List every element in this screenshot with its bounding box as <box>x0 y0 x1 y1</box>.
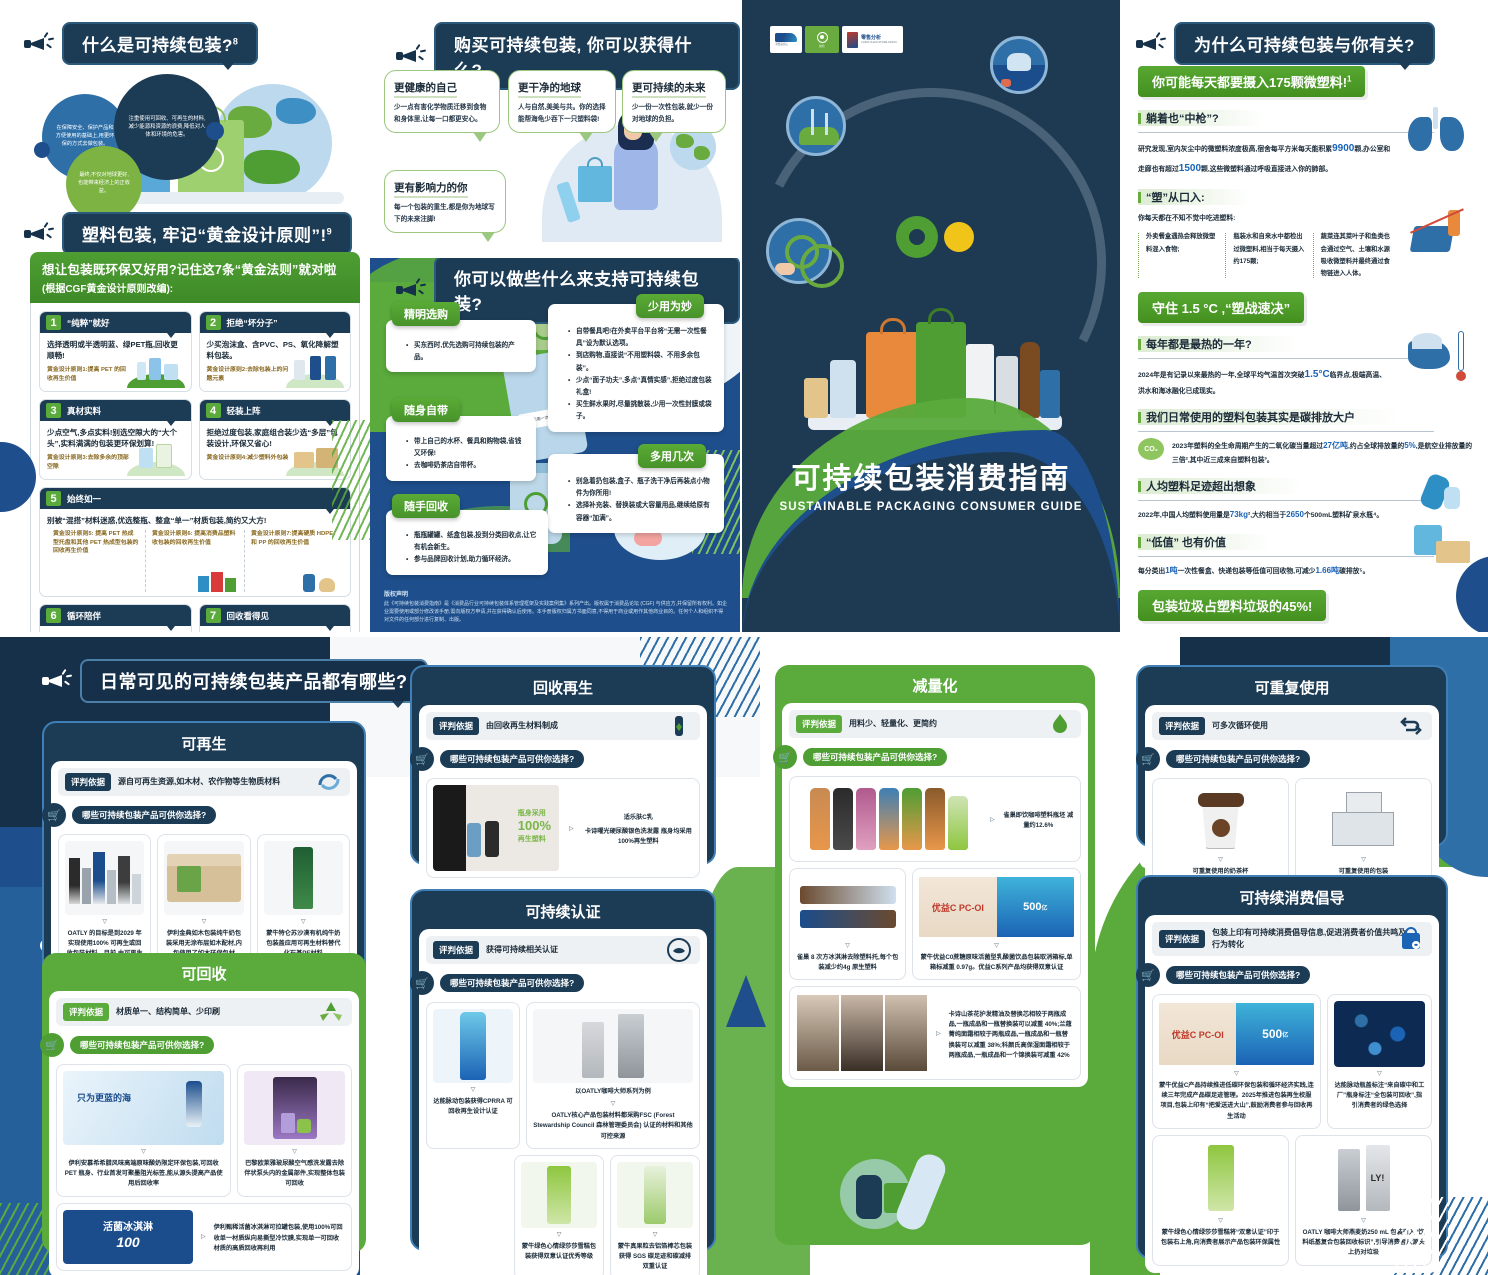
question-label: 哪些可持续包装产品可供你选择? <box>803 748 947 766</box>
rule-name: 回收看得见 <box>227 610 270 622</box>
rule-name: 真材实料 <box>67 405 101 417</box>
sub-head-footprint: 人均塑料足迹超出想象 <box>1138 478 1301 494</box>
category-body: 评判依据 材质单一、结构简单、少印刷 🛒 哪些可持续包装产品可供你选择? 只为更… <box>49 991 359 1275</box>
category-title: 回收再生 <box>419 674 707 705</box>
product-grid: ▽ 可重复使用的奶茶杯 ▽ 可重复使用的包装 <box>1152 778 1432 884</box>
lungs-icon <box>1404 105 1468 161</box>
action-list-4: 瓶瓶罐罐、纸盒包装,投到分类回收点,让它有机会新生。 参与品牌回收计划,助力循环… <box>396 530 538 567</box>
rule-note: 黄金设计原则3:去除多余的顶部空隙 <box>47 454 129 471</box>
panel-benefits-and-actions: 购买可持续包装, 你可以获得什么? 更健康的自己 少一点有害化学物质迁移到食物和… <box>370 0 740 632</box>
why-title: 为什么可持续包装与你有关? <box>1174 22 1435 65</box>
product-caption: 卡诗曜光硬尿酸银色洗发露 瓶身均采用100%再生塑料 <box>584 827 693 847</box>
megaphone-icon <box>42 670 72 692</box>
hatch-decor <box>1396 1197 1488 1275</box>
jar-icon <box>830 360 856 418</box>
category-reusable: 可重复使用 评判依据 可多次循环使用 🛒 哪些可持续包装产品可供你选择? <box>1136 665 1448 847</box>
question-row: 🛒 哪些可持续包装产品可供你选择? <box>410 971 700 995</box>
rule-name: 始终如一 <box>67 493 101 505</box>
rule-number: 6 <box>46 608 61 623</box>
rule-name: “纯粹”就好 <box>67 317 110 329</box>
cart-icon: 🛒 <box>773 745 797 769</box>
rule5-note-3: 黄金设计原则7:提高硬质 HDPE 和 PP 的回收再生价值 <box>244 530 343 592</box>
shopping-bag-leaf-icon <box>1398 926 1424 952</box>
criteria-row: 评判依据 包装上印有可持续消费倡导信息,促进消费者价值共鸣及行为转化 <box>1152 922 1432 956</box>
action-list-2: 自带餐具吧!在外卖平台平台将“无需一次性餐具”设为默认选项。 到店购物,直接说“… <box>558 326 714 424</box>
eating-col-1: 外卖餐盒遇热会释放微塑料混入食物; <box>1138 231 1225 280</box>
category-body: 评判依据 用料少、轻量化、更简约 🛒 哪些可持续包装产品可供你选择? <box>782 703 1088 1087</box>
action-tag-2: 少用为妙 <box>636 294 704 318</box>
down-arrow-icon: ▽ <box>653 1231 658 1238</box>
loop-arrows-icon <box>1398 713 1424 739</box>
category-title: 可再生 <box>51 730 357 761</box>
action-tag-1: 随身自带 <box>392 398 460 422</box>
question-row: 🛒 哪些可持续包装产品可供你选择? <box>410 747 700 771</box>
down-arrow-icon: ▽ <box>1218 856 1223 863</box>
criteria-badge: 评判依据 <box>1159 930 1205 948</box>
melting-ice-icon <box>1406 327 1470 383</box>
question-row: 🛒 哪些可持续包装产品可供你选择? <box>773 745 1081 769</box>
down-arrow-icon: ▽ <box>202 918 207 925</box>
cart-icon: 🛒 <box>410 747 434 771</box>
tree-icon <box>726 975 766 1027</box>
panel-cover: 消费品论坛 绿色 零售分析 CHINA CHAIN STORE ASSOC. <box>742 0 1120 632</box>
product-caption: 卡诗山茶花护发精油及替换芯相较于两瓶成品,一瓶成品和一瓶替换装可以减重 40%;… <box>949 1010 1074 1061</box>
product-cell: ▽ 可重复使用的奶茶杯 <box>1152 778 1289 884</box>
action-list-3: 别急着扔包装,盒子、瓶子洗干净后再装点小物件为你所用! 选择补充装、替换装或大容… <box>558 476 714 525</box>
blue-bag-icon <box>578 166 612 202</box>
category-title: 可重复使用 <box>1145 674 1439 705</box>
rule-card-2: 2拒绝“坏分子” 少买泡沫盒、含PVC、PS、氧化降解塑料包装。 黄金设计原则2… <box>199 311 352 392</box>
reusable-box-image <box>1302 785 1425 853</box>
sub-head-eating-plastic: “塑”从口入: <box>1138 189 1250 205</box>
rule-name: 循环陪伴 <box>67 610 101 622</box>
what-is-title-sup: 8 <box>233 36 239 46</box>
action-tag-4: 随手回收 <box>392 494 460 518</box>
action-card-2: 自带餐具吧!在外卖平台平台将“无需一次性餐具”设为默认选项。 到店购物,直接说“… <box>548 304 724 432</box>
category-body: 评判依据 由回收再生材料制成 🛒 哪些可持续包装产品可供你选择? 瓶身采用100… <box>419 705 707 885</box>
product-grid: ▽ 达能脉动包装获得CPRRA 可回收再生设计认证 以OATLY咖啡大师系列为例… <box>426 1002 700 1149</box>
product-caption: 蒙牛绿色心情绿莎莎雪糕包装获得双意认证优秀等级 <box>521 1242 597 1262</box>
water-drop-icon <box>1047 711 1073 737</box>
rule-note: 黄金设计原则4:减少塑料外包装 <box>207 454 289 463</box>
loreal-refill-posters-image <box>796 993 928 1073</box>
criteria-badge: 评判依据 <box>63 1003 109 1021</box>
person-icon <box>614 136 658 210</box>
hatch-decor <box>332 420 370 540</box>
product-cell-wide: ▷ 雀巢即饮咖啡塑料瓶坯 减量约12.6% <box>789 776 1081 862</box>
pet-bottles-icon <box>127 354 185 388</box>
action-list-1: 带上自己的水杯、餐具和购物袋,省钱又环保! 去咖啡奶茶店自带杯。 <box>396 436 526 473</box>
product-caption: 蒙牛优益C产品持续推进低碳环保包装和循环经济实践,连续三年完成产品碳足迹管理。2… <box>1159 1081 1314 1122</box>
rule-note: 黄金设计原则1:提高 PET 的回收再生价值 <box>47 366 129 383</box>
what-is-heading-row: 什么是可持续包装?8 <box>24 22 258 65</box>
rule-name: 拒绝“坏分子” <box>227 317 278 329</box>
eating-col-3: 蔬菜连其菜叶子和鱼类也会通过空气、土壤和水源吸收微塑料并最终通过食物链进入人体。 <box>1313 231 1400 280</box>
bubble-green: 最终,不仅对地球更好,也能带来经济上的正收益。 <box>66 146 142 222</box>
criteria-badge: 评判依据 <box>433 941 479 959</box>
criteria-row: 评判依据 获得可持续相关认证 <box>426 936 700 964</box>
criteria-badge: 评判依据 <box>1159 717 1205 735</box>
action-card-0: 买东西时,优先选购可持续包装的产品。 <box>386 320 536 372</box>
product-caption: 伊利甄稀活菌冰淇淋可拉罐包装,使用100%可回收单一材质纵向易撕型冷饮膜,实现单… <box>214 1223 345 1254</box>
wind-farm-icon <box>786 96 846 156</box>
criteria-text: 由回收再生材料制成 <box>486 720 558 732</box>
person-shopping-illustration <box>810 1149 990 1269</box>
rule-card-3: 3真材实料 少点空气,多点实料!别选空隙大的“大个头”,实料满满的包装更环保划算… <box>39 399 192 480</box>
criteria-row: 评判依据 源自可再生资源,如木材、农作物等生物质材料 <box>58 768 350 796</box>
hottest-year-text: 2024年是有记录以来最热的一年,全球平均气温首次突破1.5°C临界点,极端高温… <box>1138 365 1388 398</box>
down-arrow-icon: ▽ <box>301 918 306 925</box>
product-grid: 优益C PC-OI 500亿 ▽ 蒙牛优益C产品持续推进低碳环保包装和循环经济实… <box>1152 994 1432 1129</box>
product-cell: 只为更蓝的海 ▽ 伊利安慕希希腊风味高端原味酸奶限定环保包装,可回收PET 瓶身… <box>56 1064 231 1197</box>
product-grid-2: ▽ 蒙牛绿色心情绿莎莎雪糕将“双意认证”印于包装右上角,向消费者展示产品包装环保… <box>1152 1135 1432 1266</box>
golden-rules-banner: 想让包装既环保又好用?记住这7条“黄金法则”就对啦 (根据CGF黄金设计原则改编… <box>30 252 360 303</box>
benefit-bubble-2: 更干净的地球 人与自然,美美与共。你的选择能帮海龟少吞下一只塑料袋! <box>508 70 616 133</box>
recycled-bottle-icon <box>666 713 692 739</box>
co2-icon: CO₂ <box>1138 438 1164 460</box>
criteria-row: 评判依据 用料少、轻量化、更简约 <box>789 710 1081 738</box>
takeout-box-icon <box>1408 206 1470 260</box>
question-row: 🛒 哪些可持续包装产品可供你选择? <box>40 1033 352 1057</box>
cart-icon: 🛒 <box>40 1033 64 1057</box>
mengniu-fruit-image <box>617 1162 693 1228</box>
ocean-pollution-icon <box>990 36 1048 94</box>
golden-rules-title: 塑料包装, 牢记“黄金设计原则”!9 <box>62 212 352 255</box>
product-caption: 雀巢即饮咖啡塑料瓶坯 减量约12.6% <box>1003 811 1074 831</box>
category-body: 评判依据 获得可持续相关认证 🛒 哪些可持续包装产品可供你选择? ▽ 达能脉动包… <box>419 929 707 1275</box>
down-arrow-icon: ▽ <box>557 1231 562 1238</box>
down-arrow-icon: ▽ <box>1234 1070 1239 1077</box>
rule5-note-1: 黄金设计原则5: 提高 PET 热成型托盘和其他 PET 热成型包装的回收再生价… <box>47 530 145 592</box>
recycle-circle-icon <box>800 244 844 288</box>
waste-banner: 包装垃圾占塑料垃圾的45%! <box>1138 590 1326 621</box>
products-title: 日常可见的可持续包装产品都有哪些? <box>80 659 428 703</box>
question-row: 🛒 哪些可持续包装产品可供你选择? <box>1136 747 1432 771</box>
nescafe-bottles-image <box>796 783 982 855</box>
bottle-blue-icon <box>1040 370 1060 418</box>
product-cell: ▽ 巴黎欧莱雅玻尿酸空气感洗发露去除伴状泵头内的金属部件,实现整体包装可回收 <box>237 1064 352 1197</box>
question-label: 哪些可持续包装产品可供你选择? <box>440 974 584 992</box>
golden-rules-heading-row: 塑料包装, 牢记“黄金设计原则”!9 <box>24 212 352 255</box>
category-title: 可持续认证 <box>419 898 707 929</box>
cart-icon: 🛒 <box>42 803 66 827</box>
product-cell: 优益C PC-OI 500亿 ▽ 蒙牛优益C0蔗糖原味活菌型乳酸菌饮品包装取消箱… <box>912 868 1081 980</box>
plastic-footprint-icon <box>1410 471 1474 521</box>
cart-icon: 🛒 <box>1136 963 1160 987</box>
reusable-cup-image <box>1159 785 1282 853</box>
mengniu-green-image <box>521 1162 597 1228</box>
product-caption: 达能脉动包装获得CPRRA 可回收再生设计认证 <box>433 1097 513 1117</box>
question-label: 哪些可持续包装产品可供你选择? <box>440 750 584 768</box>
question-label: 哪些可持续包装产品可供你选择? <box>1166 750 1310 768</box>
what-is-title-text: 什么是可持续包装? <box>82 36 233 55</box>
product-caption: 达能脉动瓶盖标注“来自碳中和工厂”瓶身标注“全包装可回收”,指引消费者的绿色选择 <box>1334 1081 1425 1112</box>
disclaimer: 版权声明 此《可持续包装消费指南》是《消费品行业可持续包装体系管理框架及实践案例… <box>384 589 728 624</box>
mengniu-yoyic-image: 优益C PC-OI 500亿 <box>919 875 1074 939</box>
yili-icecream-image: 活菌冰淇淋100 <box>63 1210 193 1264</box>
eating-columns: 外卖餐盒遇热会释放微塑料混入食物; 瓶装水和自来水中都检出过微塑料,相当于每天摄… <box>1138 231 1400 280</box>
category-title: 可回收 <box>49 960 359 991</box>
rule-number: 3 <box>46 403 61 418</box>
down-arrow-icon: ▽ <box>471 1086 476 1093</box>
action-card-4: 瓶瓶罐罐、纸盒包装,投到分类回收点,让它有机会新生。 参与品牌回收计划,助力循环… <box>386 510 548 575</box>
product-cell: ▽ 蒙牛绿色心情绿莎莎雪糕包装获得双意认证优秀等级 <box>514 1155 604 1275</box>
sub-head-carbon: 我们日常使用的塑料包装其实是碳排放大户 <box>1138 409 1400 425</box>
product-caption: 蒙牛绿色心情绿莎莎雪糕将“双意认证”印于包装右上角,向消费者展示产品包装环保属性 <box>1159 1228 1282 1248</box>
rule-name: 轻装上阵 <box>227 405 261 417</box>
action-list-0: 买东西时,优先选购可持续包装的产品。 <box>396 340 526 364</box>
right-arrow-icon: ▷ <box>569 825 574 832</box>
loreal-shampoo-image <box>244 1071 345 1145</box>
question-row: 🛒 哪些可持续包装产品可供你选择? <box>42 803 350 827</box>
product-cell: 以OATLY咖啡大师系列为例 ▽ OATLY核心产品包装材料都采购FSC (Fo… <box>526 1002 700 1149</box>
sustainable-packaging-poster: 什么是可持续包装?8 在保障安全、保护产品和方便使用的基础上,用更环保的方式去做… <box>0 0 1488 1275</box>
product-caption: 伊利安慕希希腊风味高端原味酸奶限定环保包装,可回收PET 瓶身、行业首发可聚墨阻… <box>63 1159 224 1190</box>
question-label: 哪些可持续包装产品可供你选择? <box>72 806 216 824</box>
category-title: 减量化 <box>782 672 1088 703</box>
product-grid: 只为更蓝的海 ▽ 伊利安慕希希腊风味高端原味酸奶限定环保包装,可回收PET 瓶身… <box>56 1064 352 1197</box>
rule-number: 7 <box>206 608 221 623</box>
criteria-row: 评判依据 由回收再生材料制成 <box>426 712 700 740</box>
rule-card-6: 6循环陪伴 一次不够用,循环才长情!减少塑料使用,选择可重复使用设计,鼓励再生塑… <box>39 604 192 632</box>
criteria-text: 包装上印有可持续消费倡导信息,促进消费者价值共鸣及行为转化 <box>1212 927 1408 951</box>
question-row: 🛒 哪些可持续包装产品可供你选择? <box>1136 963 1432 987</box>
rule-number: 1 <box>46 315 61 330</box>
benefits-illustration: 更健康的自己 少一点有害化学物质迁移到食物和身体里,让每一口都更安心。 更干净的… <box>370 62 740 257</box>
down-arrow-icon: ▽ <box>141 1148 146 1155</box>
question-label: 哪些可持续包装产品可供你选择? <box>1166 966 1310 984</box>
climate-banner: 守住 1.5 °C ,“塑战速决” <box>1138 292 1304 323</box>
nestle-icecream-image <box>796 875 899 939</box>
product-caption: 巴黎欧莱雅玻尿酸空气感洗发露去除伴状泵头内的金属部件,实现整体包装可回收 <box>244 1159 345 1190</box>
down-arrow-icon: ▽ <box>845 942 850 949</box>
megaphone-icon <box>396 279 426 301</box>
mengniu-organic-milk-image <box>264 841 343 915</box>
logo-green-circle: 绿色 <box>805 26 839 53</box>
down-arrow-icon: ▽ <box>1361 1217 1366 1224</box>
benefit-bubble-3: 更可持续的未来 少一份一次性包装,就少一份对地球的负担。 <box>622 70 726 133</box>
category-recycled: 回收再生 评判依据 由回收再生材料制成 🛒 哪些可持续包装产品可供你选择? 瓶身 <box>410 665 716 865</box>
rule-card-5: 5始终如一 别被“混搭”材料迷惑,优选整瓶、整盒“单一”材质包装,简约又大方! … <box>39 487 351 597</box>
gear-icon <box>896 216 938 258</box>
what-is-title: 什么是可持续包装?8 <box>62 22 258 65</box>
right-arrow-icon: ▷ <box>990 816 995 823</box>
product-caption: 蒙牛优益C0蔗糖原味活菌型乳酸菌饮品包装取消箱标,单箱标减重 0.97g。优益C… <box>919 953 1074 973</box>
down-arrow-icon: ▽ <box>1377 1070 1382 1077</box>
sub-head-lowvalue: “低值” 也有价值 <box>1138 534 1271 550</box>
category-certified: 可持续认证 评判依据 获得可持续相关认证 🛒 哪些可持续包装产品可供你选择? ▽ <box>410 889 716 1251</box>
rule-number: 5 <box>46 491 61 506</box>
panel-what-is-sustainable-packaging: 什么是可持续包装?8 在保障安全、保护产品和方便使用的基础上,用更环保的方式去做… <box>0 0 370 632</box>
bag-and-box-icon <box>1408 519 1474 575</box>
why-heading-row: 为什么可持续包装与你有关? <box>1136 22 1435 65</box>
logo-row: 消费品论坛 绿色 零售分析 CHINA CHAIN STORE ASSOC. <box>770 26 903 53</box>
certification-leaf-icon <box>666 937 692 963</box>
cover-title-cn: 可持续包装消费指南 <box>742 455 1120 497</box>
product-caption: 雀巢 8 次方冰淇淋去除塑料托,每个包装减少约4g 原生塑料 <box>796 953 899 973</box>
bottom-half-products: 日常可见的可持续包装产品都有哪些? 可再生 评判依据 源自可再生资源,如木材、农… <box>0 637 1488 1275</box>
criteria-text: 材质单一、结构简单、少印刷 <box>116 1006 220 1018</box>
microplastics-dust-text: 研究发现,室内灰尘中的微塑料浓度极高,宿舍每平方米每天能积累9900颗,办公室和… <box>1138 139 1396 178</box>
benefit-bubble-1: 更健康的自己 少一点有害化学物质迁移到食物和身体里,让每一口都更安心。 <box>384 70 500 133</box>
product-cell-wide: ▷ 卡诗山茶花护发精油及替换芯相较于两瓶成品,一瓶成品和一瓶替换装可以减重 40… <box>789 986 1081 1080</box>
sub-head-hottest-year: 每年都是最热的一年? <box>1138 336 1297 352</box>
mengniu-yoyic-advocacy-image: 优益C PC-OI 500亿 <box>1159 1001 1314 1067</box>
right-arrow-icon: ▷ <box>201 1233 206 1240</box>
action-card-1: 带上自己的水杯、餐具和购物袋,省钱又环保! 去咖啡奶茶店自带杯。 <box>386 416 536 481</box>
product-cell: ▽ 达能脉动瓶盖标注“来自碳中和工厂”瓶身标注“全包装可回收”,指引消费者的绿色… <box>1327 994 1432 1129</box>
mengniu-green-advocacy-image <box>1159 1142 1282 1214</box>
criteria-badge: 评判依据 <box>433 717 479 735</box>
criteria-text: 用料少、轻量化、更简约 <box>849 718 937 730</box>
category-body: 评判依据 包装上印有可持续消费倡导信息,促进消费者价值共鸣及行为转化 🛒 哪些可… <box>1145 915 1439 1273</box>
criteria-row: 评判依据 可多次循环使用 <box>1152 712 1432 740</box>
product-cell: ▽ 蒙牛绿色心情绿莎莎雪糕将“双意认证”印于包装右上角,向消费者展示产品包装环保… <box>1152 1135 1289 1266</box>
cover-title-en: SUSTAINABLE PACKAGING CONSUMER GUIDE <box>742 501 1120 513</box>
down-arrow-icon: ▽ <box>994 942 999 949</box>
criteria-text: 获得可持续相关认证 <box>486 944 558 956</box>
benefit-bubble-4: 更有影响力的你 每一个包装的重生,都是你为地球写下的未来注脚! <box>384 170 506 233</box>
rule-number: 4 <box>206 403 221 418</box>
worker-icon <box>299 568 339 592</box>
footprint-text: 2022年,中国人均塑料使用量是73kg²,大约相当于2650个500mL塑料矿… <box>1138 507 1388 523</box>
rule-desc: 别被“混搭”材料迷惑,优选整瓶、整盒“单一”材质包装,简约又大方! <box>47 515 343 526</box>
oatly-barista-image <box>533 1009 693 1083</box>
renewable-arrows-icon <box>316 769 342 795</box>
product-cell: ▽ 可重复使用的包装 <box>1295 778 1432 884</box>
megaphone-icon <box>24 223 54 245</box>
down-arrow-icon: ▽ <box>292 1148 297 1155</box>
carbon-text: 2023年塑料的全生命周期产生的二氧化碳当量超过27亿吨,约占全球排放量的5%,… <box>1172 438 1474 467</box>
cart-icon: 🛒 <box>410 971 434 995</box>
why-content: 你可能每天都要摄入175颗微塑料!1 躺着也“中枪”? 研究发现,室内灰尘中的微… <box>1138 66 1474 632</box>
criteria-badge: 评判依据 <box>65 773 111 791</box>
down-arrow-icon: ▽ <box>1218 1217 1223 1224</box>
product-title-line: 适乐肤C乳 <box>584 813 693 823</box>
lowvalue-text: 每分类出1吨一次性餐盒、快递包装等低值可回收物,可减少1.66吨碳排放⁵。 <box>1138 563 1388 579</box>
cart-icon: 🛒 <box>1136 747 1160 771</box>
rule-card-1: 1“纯粹”就好 选择透明或半透明蓝、绿PET瓶,回收更顺畅! 黄金设计原则1:提… <box>39 311 192 392</box>
category-body: 评判依据 可多次循环使用 🛒 哪些可持续包装产品可供你选择? <box>1145 705 1439 891</box>
product-cell: ▽ 蒙牛真果粒去铝箔棒芯包装获得 SGS 碳足迹和碳减排双重认证 <box>610 1155 700 1275</box>
logo-cgf: 消费品论坛 <box>770 26 802 53</box>
golden-rules-cards: 1“纯粹”就好 选择透明或半透明蓝、绿PET瓶,回收更顺畅! 黄金设计原则1:提… <box>30 303 360 632</box>
kerastase-shampoo-image: 瓶身采用100%再生塑料 <box>433 785 559 871</box>
rule5-note-2: 黄金设计原则6: 提高消费品塑料收包装的回收再生价值 <box>145 530 244 592</box>
question-label: 哪些可持续包装产品可供你选择? <box>70 1036 214 1054</box>
rule-number: 2 <box>206 315 221 330</box>
rule-note: 黄金设计原则2:去除包装上的问题元素 <box>207 366 289 383</box>
banned-plastic-icon <box>286 354 344 388</box>
golden-rules-block: 想让包装既环保又好用?记住这7条“黄金法则”就对啦 (根据CGF黄金设计原则改编… <box>30 252 360 632</box>
logo-ccfa: 零售分析 CHINA CHAIN STORE ASSOC. <box>842 26 903 53</box>
product-caption: OATLY核心产品包装材料都采购FSC (Forest Stewardship … <box>533 1111 693 1142</box>
recycle-triangle-icon <box>318 999 344 1025</box>
criteria-badge: 评判依据 <box>796 715 842 733</box>
down-arrow-icon: ▽ <box>1361 856 1366 863</box>
danone-mizone-image <box>433 1009 513 1083</box>
category-recyclable: 可回收 评判依据 材质单一、结构简单、少印刷 🛒 哪些可持续包装产品可供你选择? <box>42 953 366 1253</box>
product-grid: ▽ 雀巢 8 次方冰淇淋去除塑料托,每个包装减少约4g 原生塑料 优益C PC-… <box>789 868 1081 980</box>
yili-satine-box-image <box>164 841 243 915</box>
product-pre-caption: 以OATLY咖啡大师系列为例 <box>575 1087 651 1097</box>
down-arrow-icon: ▽ <box>611 1100 616 1107</box>
final-stat-text: 全球每年生产约4.3亿吨的塑料,其中约有36%用于包装,且大部分最终被填埋或成为… <box>1138 631 1468 632</box>
product-cell-wide: 活菌冰淇淋100 ▷ 伊利甄稀活菌冰淇淋可拉罐包装,使用100%可回收单一材质纵… <box>56 1203 352 1271</box>
product-caption: 蒙牛真果粒去铝箔棒芯包装获得 SGS 碳足迹和碳减排双重认证 <box>617 1242 693 1273</box>
box-icon <box>804 378 828 418</box>
actions-panel: 你可以做些什么来支持可持续包装? ✓无需一次性餐具 <box>370 258 740 632</box>
product-cell: ▽ 达能脉动包装获得CPRRA 可回收再生设计认证 <box>426 1002 520 1149</box>
danone-bottlecaps-image <box>1334 1001 1425 1067</box>
megaphone-icon <box>24 33 54 55</box>
megaphone-icon <box>1136 33 1166 55</box>
criteria-text: 可多次循环使用 <box>1212 720 1268 732</box>
cover-title: 可持续包装消费指南 SUSTAINABLE PACKAGING CONSUMER… <box>742 455 1120 513</box>
filled-cartons-icon <box>127 442 185 476</box>
eating-col-2: 瓶装水和自来水中都检出过微塑料,相当于每天摄入约175颗; <box>1225 231 1312 280</box>
criteria-text: 源自可再生资源,如木材、农作物等生物质材料 <box>118 776 280 788</box>
yili-ambpoial-blue-image: 只为更蓝的海 <box>63 1071 224 1145</box>
bottle-dark-icon <box>1020 342 1040 418</box>
sub-head-lying-down: 躺着也“中枪”? <box>1138 110 1264 126</box>
lightbulb-icon <box>944 222 974 252</box>
microplastics-banner: 你可能每天都要摄入175颗微塑料!1 <box>1138 66 1365 97</box>
rule-card-7: 7回收看得见 选择经第三方认可的“可回收再生设计”塑料包装,环保标识更分满! 黄… <box>199 604 352 632</box>
criteria-row: 评判依据 材质单一、结构简单、少印刷 <box>56 998 352 1026</box>
category-title: 可持续消费倡导 <box>1145 884 1439 915</box>
containers-icon <box>196 566 240 592</box>
product-cell-wide: 瓶身采用100%再生塑料 ▷ 适乐肤C乳 卡诗曜光硬尿酸银色洗发露 瓶身均采用1… <box>426 778 700 878</box>
right-arrow-icon: ▷ <box>936 1030 941 1037</box>
oatly-cartons-image <box>65 841 144 915</box>
down-arrow-icon: ▽ <box>102 918 107 925</box>
top-half: 什么是可持续包装?8 在保障安全、保护产品和方便使用的基础上,用更环保的方式去做… <box>0 0 1488 632</box>
action-tag-0: 精明选购 <box>392 302 460 326</box>
action-tag-3: 多用几次 <box>638 444 706 468</box>
product-grid-2: ▽ 蒙牛绿色心情绿莎莎雪糕包装获得双意认证优秀等级 ▽ 蒙牛真果粒去铝箔棒芯包装… <box>514 1155 700 1275</box>
product-cell: 优益C PC-OI 500亿 ▽ 蒙牛优益C产品持续推进低碳环保包装和循环经济实… <box>1152 994 1321 1129</box>
what-is-illustration: 在保障安全、保护产品和方便使用的基础上,用更环保的方式去做包装。 注重使用可回收… <box>18 64 353 209</box>
product-cell: ▽ 雀巢 8 次方冰淇淋去除塑料托,每个包装减少约4g 原生塑料 <box>789 868 906 980</box>
rule-card-4: 4轻装上阵 拒绝过度包装,家庭组合装少选“多层”包装设计,环保又省心! 黄金设计… <box>199 399 352 480</box>
products-heading-row: 日常可见的可持续包装产品都有哪些? <box>42 659 428 703</box>
panel-why-relevant: 为什么可持续包装与你有关? 你可能每天都要摄入175颗微塑料!1 躺着也“中枪”… <box>1120 0 1488 632</box>
